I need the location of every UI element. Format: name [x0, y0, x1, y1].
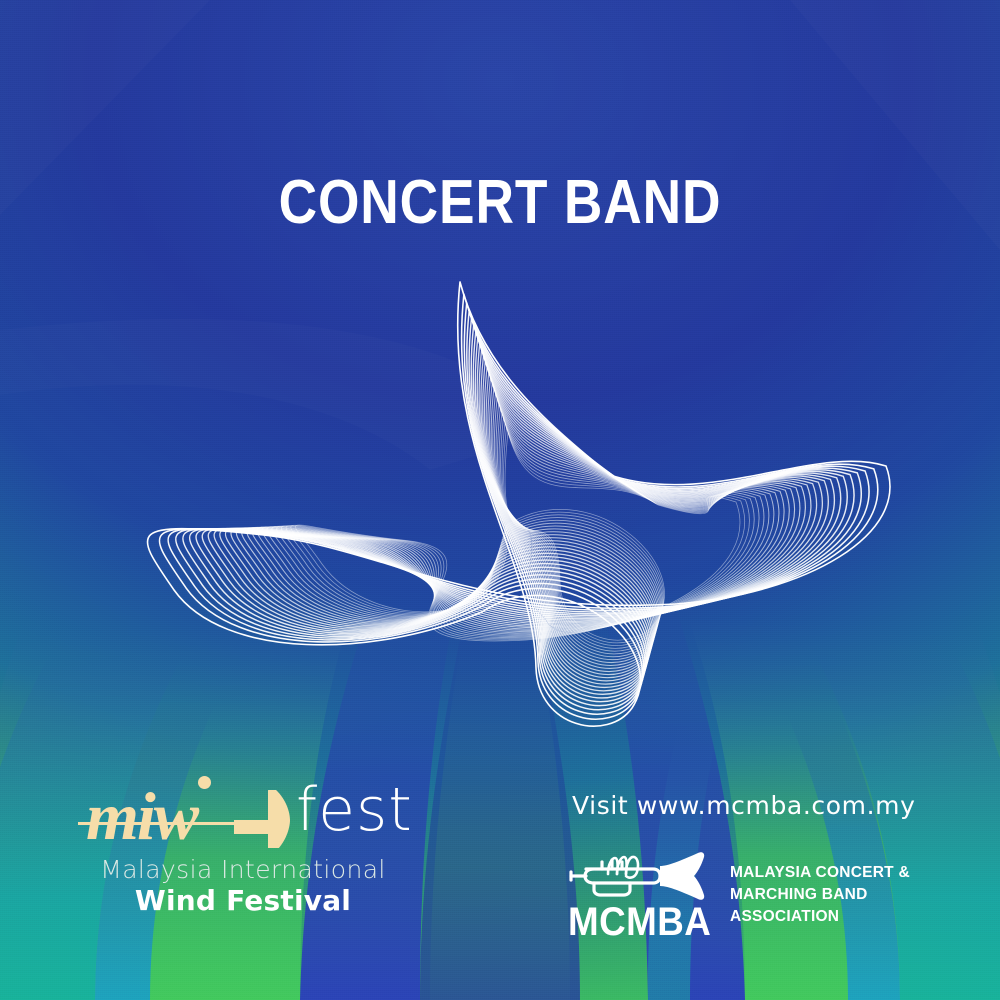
association-name-line-1: MALAYSIA CONCERT &	[730, 862, 910, 884]
trumpet-bell-icon	[228, 790, 306, 853]
wordmark-dot	[198, 776, 211, 789]
trumpet-icon	[568, 852, 708, 900]
visit-website-text[interactable]: Visit www.mcmba.com.my	[572, 791, 916, 820]
association-acronym: MCMBA	[568, 902, 697, 942]
page-title: CONCERT BAND	[70, 172, 930, 234]
festival-logo-wordmark: miw fest	[78, 786, 408, 848]
festival-logo: miw fest Malaysia International Wind Fes…	[78, 786, 408, 917]
wordmark-miw: miw	[86, 782, 197, 850]
association-name-line-3: ASSOCIATION	[730, 906, 910, 928]
festival-subtitle-line-1: Malaysia International	[78, 856, 408, 883]
poster-canvas: CONCERT BAND miw fest Malaysia Internati…	[0, 0, 1000, 1000]
festival-subtitle-line-2: Wind Festival	[78, 885, 408, 917]
association-logo-group: MCMBA MALAYSIA CONCERT & MARCHING BAND A…	[568, 852, 910, 942]
association-name-line-2: MARCHING BAND	[730, 884, 910, 906]
wordmark-fest: fest	[296, 780, 413, 840]
swirling-ribbon-graphic	[130, 270, 890, 720]
association-name: MALAYSIA CONCERT & MARCHING BAND ASSOCIA…	[730, 852, 910, 928]
association-logo: MCMBA	[568, 852, 708, 942]
